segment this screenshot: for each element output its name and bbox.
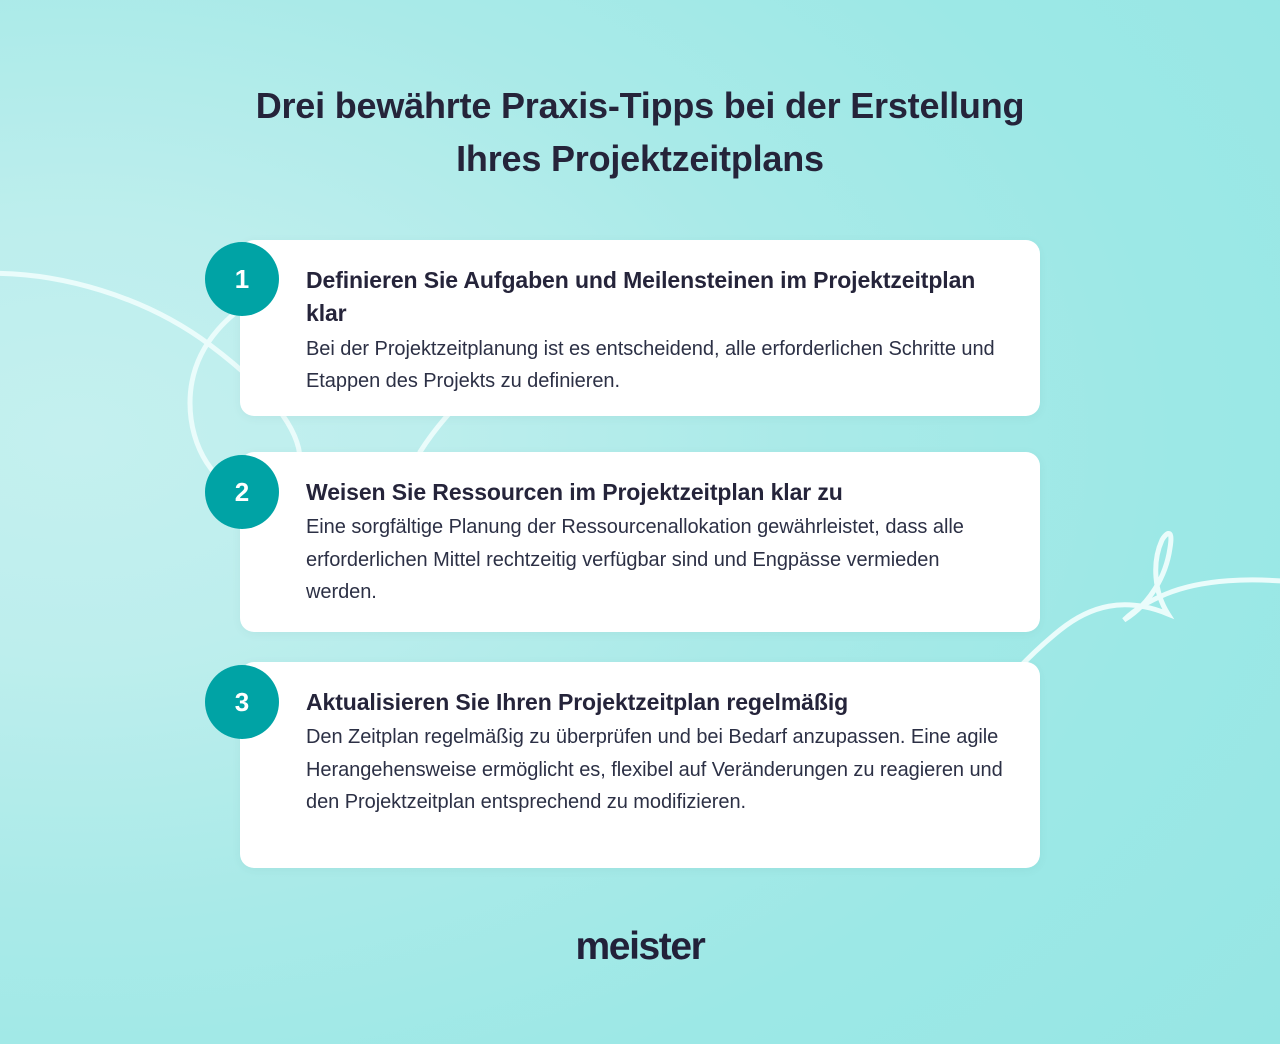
tip-badge-3: 3	[205, 665, 279, 739]
tip-badge-1-number: 1	[235, 264, 249, 295]
tip-card-2-body: Weisen Sie Ressourcen im Projektzeitplan…	[306, 476, 1006, 609]
tip-card-2-heading: Weisen Sie Ressourcen im Projektzeitplan…	[306, 476, 1006, 509]
page-title-line-2: Ihres Projektzeitplans	[0, 133, 1280, 186]
tip-card-1-text: Bei der Projektzeitplanung ist es entsch…	[306, 333, 1006, 398]
tip-card-3-text: Den Zeitplan regelmäßig zu überprüfen un…	[306, 721, 1006, 818]
tip-card-3: Aktualisieren Sie Ihren Projektzeitplan …	[240, 662, 1040, 868]
tip-card-1: Definieren Sie Aufgaben und Meilensteine…	[240, 240, 1040, 416]
tip-badge-2-number: 2	[235, 477, 249, 508]
page-title: Drei bewährte Praxis-Tipps bei der Erste…	[0, 80, 1280, 185]
page-title-line-1: Drei bewährte Praxis-Tipps bei der Erste…	[0, 80, 1280, 133]
brand-logo: meister	[0, 925, 1280, 969]
tip-badge-2: 2	[205, 455, 279, 529]
tip-card-3-body: Aktualisieren Sie Ihren Projektzeitplan …	[306, 686, 1006, 819]
tip-badge-3-number: 3	[235, 687, 249, 718]
tip-badge-1: 1	[205, 242, 279, 316]
tip-card-3-heading: Aktualisieren Sie Ihren Projektzeitplan …	[306, 686, 1006, 719]
tip-card-1-heading: Definieren Sie Aufgaben und Meilensteine…	[306, 264, 1006, 331]
tip-card-2-text: Eine sorgfältige Planung der Ressourcena…	[306, 511, 1006, 608]
tip-card-2: Weisen Sie Ressourcen im Projektzeitplan…	[240, 452, 1040, 632]
tip-card-1-body: Definieren Sie Aufgaben und Meilensteine…	[306, 264, 1006, 397]
